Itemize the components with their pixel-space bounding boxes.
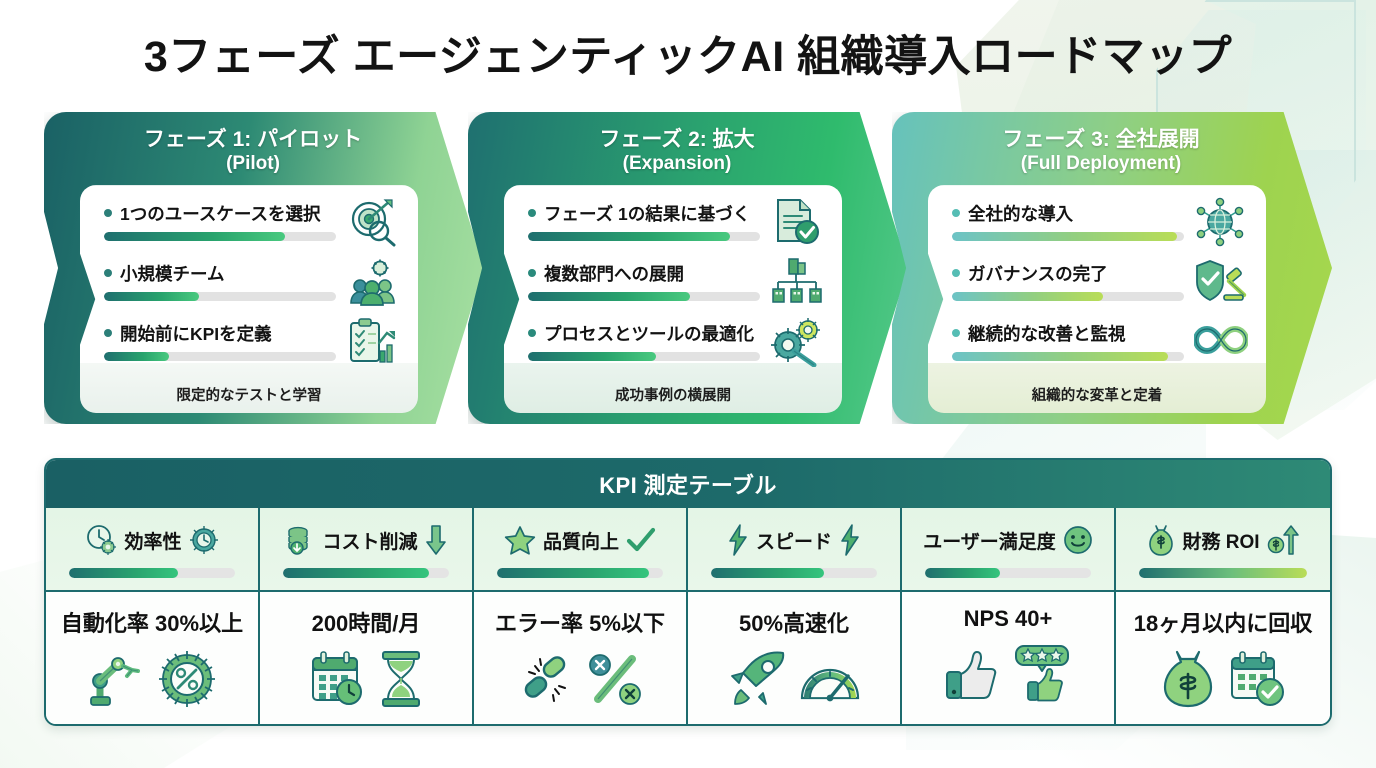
kpi-value-roi: 18ヶ月以内に回収 <box>1116 592 1330 724</box>
kpi-column-header-satisfaction[interactable]: ユーザー満足度 <box>902 508 1116 592</box>
kpi-column-header-quality[interactable]: 品質向上 <box>474 508 688 592</box>
kpi-value-roi-icons <box>1160 646 1286 712</box>
phase-2-item-1-label: フェーズ 1の結果に基づく <box>544 201 750 226</box>
kpi-quality-progress-track <box>497 568 662 578</box>
kpi-header-satisfaction-label: ユーザー満足度 <box>923 527 1056 554</box>
bullet-dot-icon <box>952 209 960 217</box>
phase-card-1[interactable]: フェーズ 1: パイロット (Pilot) 1つのユースケースを選択 <box>44 112 484 424</box>
phase-1-body: 1つのユースケースを選択 <box>80 185 418 413</box>
calendar-clock-icon <box>307 650 367 708</box>
clock-gear-icon <box>85 524 117 556</box>
bullet-dot-icon <box>104 269 112 277</box>
kpi-header-roi-top: 財務 ROI <box>1128 518 1318 562</box>
target-magnifier-icon <box>346 197 402 249</box>
bullet-dot-icon <box>104 209 112 217</box>
phase-1-item-2-label: 小規模チーム <box>120 261 224 286</box>
kpi-satisfaction-progress-track <box>925 568 1090 578</box>
phase-1-title: フェーズ 1: パイロット <box>144 128 362 151</box>
kpi-table: KPI 測定テーブル <box>44 458 1332 726</box>
kpi-value-cost-text: 200時間/月 <box>312 606 421 638</box>
kpi-header-cost-label: コスト削減 <box>322 527 417 554</box>
phases-row: フェーズ 1: パイロット (Pilot) 1つのユースケースを選択 <box>44 112 1332 434</box>
kpi-value-cost: 200時間/月 <box>260 592 474 724</box>
kpi-header-speed-top: スピード <box>700 518 888 562</box>
bolt-icon <box>727 524 749 556</box>
check-icon <box>626 526 656 554</box>
phase-2-item-3: プロセスとツールの最適化 <box>528 319 828 379</box>
speedometer-icon <box>799 654 861 704</box>
kpi-header-satisfaction-top: ユーザー満足度 <box>914 518 1102 562</box>
kpi-value-quality-text: エラー率 5%以下 <box>495 606 665 638</box>
star-icon <box>504 525 536 555</box>
phase-2-item-3-progress-track <box>528 352 760 361</box>
phase-1-item-3-progress-fill <box>104 352 169 361</box>
kpi-value-quality-icons <box>515 646 645 712</box>
phase-2-footer: 成功事例の横展開 <box>504 375 842 413</box>
phase-card-2[interactable]: フェーズ 2: 拡大 (Expansion) フェーズ 1の結果に基づく <box>468 112 908 424</box>
phase-2-item-1-progress-fill <box>528 232 730 241</box>
phase-2-item-2-progress-fill <box>528 292 690 301</box>
kpi-value-speed-icons <box>727 646 861 712</box>
kpi-value-quality: エラー率 5%以下 <box>474 592 688 724</box>
phase-3-body: 全社的な導入 <box>928 185 1266 413</box>
phase-2-item-2-label: 複数部門への展開 <box>544 261 684 286</box>
phase-1-item-3-label: 開始前にKPIを定義 <box>120 321 272 346</box>
phase-1-footer: 限定的なテストと学習 <box>80 375 418 413</box>
money-bag-icon <box>1147 524 1175 556</box>
phase-1-item-1-label: 1つのユースケースを選択 <box>120 201 320 226</box>
phase-3-item-1-progress-track <box>952 232 1184 241</box>
phase-1-item-2-progress-track <box>104 292 336 301</box>
kpi-header-roi-label: 財務 ROI <box>1182 527 1259 554</box>
broken-chain-icon <box>515 650 575 708</box>
phase-2-item-3-label: プロセスとツールの最適化 <box>544 321 754 346</box>
phase-3-item-3-label: 継続的な改善と監視 <box>968 321 1126 346</box>
kpi-column-header-roi[interactable]: 財務 ROI <box>1116 508 1330 592</box>
kpi-column-header-cost[interactable]: コスト削減 <box>260 508 474 592</box>
phase-3-item-1-label: 全社的な導入 <box>968 201 1073 226</box>
phase-1-title-block: フェーズ 1: パイロット (Pilot) <box>66 124 440 175</box>
percent-x-icon <box>585 650 645 708</box>
phase-2-body: フェーズ 1の結果に基づく <box>504 185 842 413</box>
kpi-roi-progress-track <box>1139 568 1306 578</box>
phase-3-item-2-progress-track <box>952 292 1184 301</box>
kpi-speed-progress-track <box>711 568 876 578</box>
kpi-cost-progress-track <box>283 568 448 578</box>
arrow-chevron-2-icon: › <box>930 258 956 292</box>
kpi-header-row: 効率性 <box>46 508 1330 592</box>
kpi-header-cost-top: コスト削減 <box>272 518 460 562</box>
kpi-value-efficiency-icons <box>87 646 217 712</box>
bullet-dot-icon <box>528 209 536 217</box>
kpi-roi-progress-fill <box>1139 568 1306 578</box>
arrow-chevron-1-icon: › <box>505 258 531 292</box>
phase-1-item-1-progress-fill <box>104 232 285 241</box>
phase-2-title-block: フェーズ 2: 拡大 (Expansion) <box>490 124 864 175</box>
kpi-satisfaction-progress-fill <box>925 568 999 578</box>
kpi-efficiency-progress-track <box>69 568 234 578</box>
phase-2-item-3-progress-fill <box>528 352 656 361</box>
rocket-icon <box>727 650 789 708</box>
phase-1-item-1-progress-track <box>104 232 336 241</box>
phase-3-footer: 組織的な変革と定着 <box>928 375 1266 413</box>
phase-3-subtitle: (Full Deployment) <box>914 153 1288 175</box>
phase-1-item-3-progress-track <box>104 352 336 361</box>
phase-1-subtitle: (Pilot) <box>66 153 440 175</box>
kpi-speed-progress-fill <box>711 568 823 578</box>
phase-3-title-block: フェーズ 3: 全社展開 (Full Deployment) <box>914 124 1288 175</box>
clipboard-chart-icon <box>346 317 402 369</box>
phase-3-item-3-progress-track <box>952 352 1184 361</box>
phase-3-item-3: 継続的な改善と監視 <box>952 319 1252 379</box>
kpi-value-row: 自動化率 30%以上 <box>46 592 1330 724</box>
globe-network-icon <box>1194 197 1250 249</box>
kpi-table-title: KPI 測定テーブル <box>46 460 1330 508</box>
phase-2-item-1: フェーズ 1の結果に基づく <box>528 199 828 259</box>
page-title: 3フェーズ エージェンティックAI 組織導入ロードマップ <box>0 22 1376 84</box>
bullet-dot-icon <box>104 329 112 337</box>
robot-arm-icon <box>87 649 147 709</box>
phase-3-title: フェーズ 3: 全社展開 <box>1002 128 1199 151</box>
phase-1-item-3: 開始前にKPIを定義 <box>104 319 404 379</box>
kpi-value-satisfaction-icons <box>944 640 1072 706</box>
phase-3-item-1-progress-fill <box>952 232 1177 241</box>
coins-down-icon <box>285 525 315 555</box>
phase-2-item-1-progress-track <box>528 232 760 241</box>
phase-3-item-2: ガバナンスの完了 <box>952 259 1252 319</box>
phase-3-item-1: 全社的な導入 <box>952 199 1252 259</box>
calendar-check-icon <box>1226 650 1286 708</box>
kpi-value-roi-text: 18ヶ月以内に回収 <box>1134 606 1312 638</box>
kpi-column-header-efficiency[interactable]: 効率性 <box>46 508 260 592</box>
document-check-icon <box>770 197 826 249</box>
kpi-value-efficiency: 自動化率 30%以上 <box>46 592 260 724</box>
team-gear-icon <box>346 257 402 309</box>
bolt-icon <box>839 524 861 556</box>
bullet-dot-icon <box>952 329 960 337</box>
phase-2-item-2: 複数部門への展開 <box>528 259 828 319</box>
kpi-value-efficiency-text: 自動化率 30%以上 <box>61 606 243 638</box>
kpi-efficiency-progress-fill <box>69 568 178 578</box>
thumbs-up-icon <box>944 644 1002 702</box>
kpi-value-speed-text: 50%高速化 <box>739 606 849 638</box>
phase-1-item-1: 1つのユースケースを選択 <box>104 199 404 259</box>
phase-1-item-2-progress-fill <box>104 292 199 301</box>
kpi-header-quality-label: 品質向上 <box>543 527 619 554</box>
infographic-root: 3フェーズ エージェンティックAI 組織導入ロードマップ フェーズ 1: パイロ… <box>0 0 1376 768</box>
kpi-value-cost-icons <box>307 646 425 712</box>
kpi-value-satisfaction: NPS 40+ <box>902 592 1116 724</box>
money-bag-icon <box>1160 649 1216 709</box>
org-chart-icon <box>770 257 826 309</box>
phase-1-item-2: 小規模チーム <box>104 259 404 319</box>
dollar-up-arrow-icon <box>1267 524 1299 556</box>
smiley-icon <box>1063 525 1093 555</box>
kpi-value-satisfaction-text: NPS 40+ <box>964 606 1053 632</box>
kpi-quality-progress-fill <box>497 568 649 578</box>
kpi-cost-progress-fill <box>283 568 429 578</box>
down-arrow-icon <box>425 525 447 555</box>
phase-2-item-2-progress-track <box>528 292 760 301</box>
kpi-header-efficiency-label: 効率性 <box>124 527 181 554</box>
kpi-header-speed-label: スピード <box>756 527 832 554</box>
percent-gear-icon <box>157 649 217 709</box>
bullet-dot-icon <box>528 329 536 337</box>
gear-clock-icon <box>189 525 219 555</box>
phase-3-item-3-progress-fill <box>952 352 1168 361</box>
kpi-header-quality-top: 品質向上 <box>486 518 674 562</box>
phase-2-subtitle: (Expansion) <box>490 153 864 175</box>
phase-3-item-2-progress-fill <box>952 292 1103 301</box>
shield-gavel-icon <box>1194 257 1250 309</box>
hourglass-icon <box>377 650 425 708</box>
kpi-column-header-speed[interactable]: スピード <box>688 508 902 592</box>
phase-3-item-2-label: ガバナンスの完了 <box>968 261 1108 286</box>
phase-card-3[interactable]: フェーズ 3: 全社展開 (Full Deployment) 全社的な導入 <box>892 112 1332 424</box>
star-rating-icon <box>1012 644 1072 702</box>
kpi-header-efficiency-top: 効率性 <box>58 518 246 562</box>
kpi-value-speed: 50%高速化 <box>688 592 902 724</box>
infinity-icon <box>1194 317 1250 369</box>
gear-wrench-icon <box>770 317 826 369</box>
phase-2-title: フェーズ 2: 拡大 <box>599 128 754 151</box>
